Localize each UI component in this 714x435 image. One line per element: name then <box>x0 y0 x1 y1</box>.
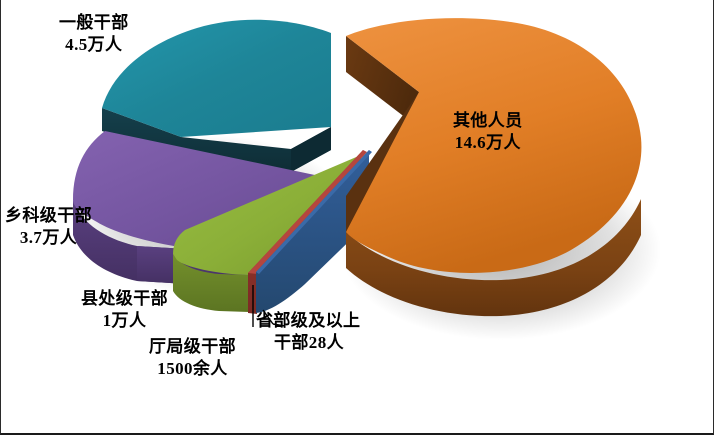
pie-chart-graphic <box>1 0 714 435</box>
slice-label-bureau-line1: 厅局级干部 <box>149 336 236 358</box>
slice-label-other-line2: 14.6万人 <box>453 132 523 154</box>
slice-label-other-line1: 其他人员 <box>453 110 523 132</box>
chart-canvas: 一般干部 4.5万人 乡科级干部 3.7万人 县处级干部 1万人 厅局级干部 1… <box>0 0 714 435</box>
slice-label-other: 其他人员 14.6万人 <box>453 110 523 154</box>
slice-label-county-line1: 县处级干部 <box>81 288 168 310</box>
slice-label-county-line2: 1万人 <box>81 310 168 332</box>
slice-label-provincial-line1: 省部级及以上 <box>256 310 360 332</box>
slice-label-general-line1: 一般干部 <box>59 12 129 34</box>
slice-label-provincial: 省部级及以上 干部28人 <box>256 310 360 354</box>
slice-label-county: 县处级干部 1万人 <box>81 288 168 332</box>
slice-label-township-line1: 乡科级干部 <box>5 205 92 227</box>
pie-slice-other[interactable] <box>346 18 641 316</box>
slice-label-township: 乡科级干部 3.7万人 <box>5 205 92 249</box>
slice-label-general: 一般干部 4.5万人 <box>59 12 129 56</box>
slice-label-general-line2: 4.5万人 <box>59 34 129 56</box>
slice-label-bureau: 厅局级干部 1500余人 <box>149 336 236 380</box>
slice-label-bureau-line2: 1500余人 <box>149 358 236 380</box>
slice-label-township-line2: 3.7万人 <box>5 227 92 249</box>
slice-label-provincial-line2: 干部28人 <box>256 332 360 354</box>
